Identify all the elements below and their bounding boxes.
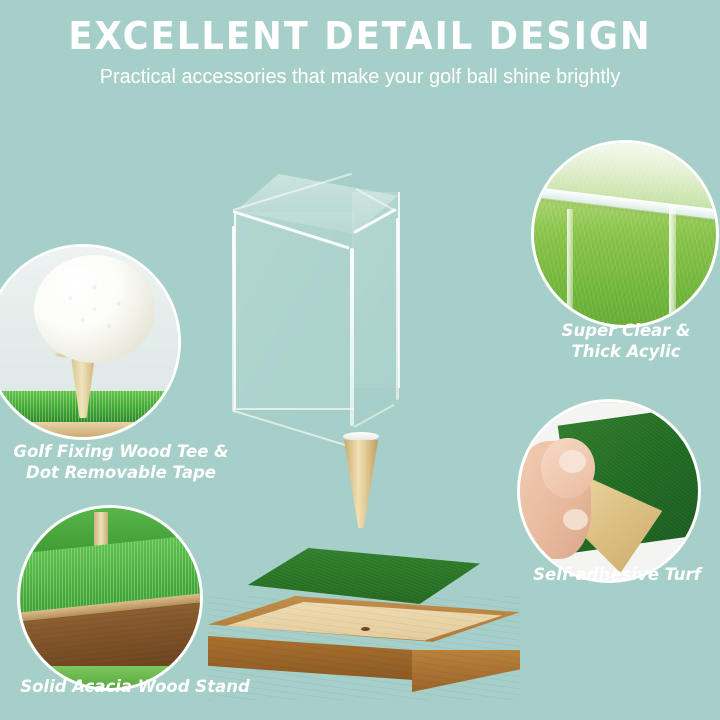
wood-board: [0, 422, 178, 437]
infographic-canvas: EXCELLENT DETAIL DESIGN Practical access…: [0, 0, 720, 720]
header: EXCELLENT DETAIL DESIGN Practical access…: [0, 14, 720, 90]
acrylic-corner-photo: [534, 143, 716, 325]
feature-photo-golf-tee-tape: [0, 247, 178, 437]
box-center-post: [350, 248, 354, 426]
base-front-side: [208, 636, 414, 680]
acrylic-left-post: [567, 209, 574, 322]
tee-shaft: [344, 440, 378, 528]
caption-line-2: Dot Removable Tape: [0, 462, 246, 483]
feature-caption-golf-tee-tape: Golf Fixing Wood Tee & Dot Removable Tap…: [0, 441, 246, 483]
feature-photo-self-adhesive-turf: [520, 402, 698, 580]
golf-ball: [34, 255, 156, 363]
product-wood-tee: [340, 432, 382, 528]
acrylic-right-post: [669, 205, 677, 321]
feature-photo-acacia-stand: [20, 508, 200, 688]
base-tee-hole: [361, 627, 370, 631]
feature-photo-clear-acrylic: [534, 143, 716, 325]
thumb-nail: [559, 450, 586, 473]
caption-line-1: Super Clear &: [532, 320, 720, 341]
caption-line-2: Thick Acylic: [532, 341, 720, 362]
feature-caption-clear-acrylic: Super Clear & Thick Acylic: [532, 320, 720, 362]
box-right-post: [396, 218, 399, 400]
wood-stand-photo: [20, 508, 200, 688]
caption-line-1: Self-adhesive Turf: [524, 564, 710, 585]
tee-top-disc: [343, 432, 379, 441]
feature-caption-self-adhesive-turf: Self-adhesive Turf: [524, 564, 710, 585]
finger-nail: [563, 509, 588, 530]
product-acrylic-box: [228, 170, 400, 420]
adhesive-turf-photo: [520, 402, 698, 580]
base-right-side: [412, 650, 520, 692]
caption-line-1: Golf Fixing Wood Tee &: [0, 441, 246, 462]
box-left-post: [232, 226, 235, 412]
box-bottom-side-edge: [354, 404, 395, 428]
product-wood-base: [208, 596, 520, 700]
golf-ball-photo: [0, 247, 178, 437]
box-bottom-front-edge: [234, 410, 349, 447]
page-subtitle: Practical accessories that make your gol…: [11, 64, 709, 90]
page-title: EXCELLENT DETAIL DESIGN: [25, 14, 695, 58]
